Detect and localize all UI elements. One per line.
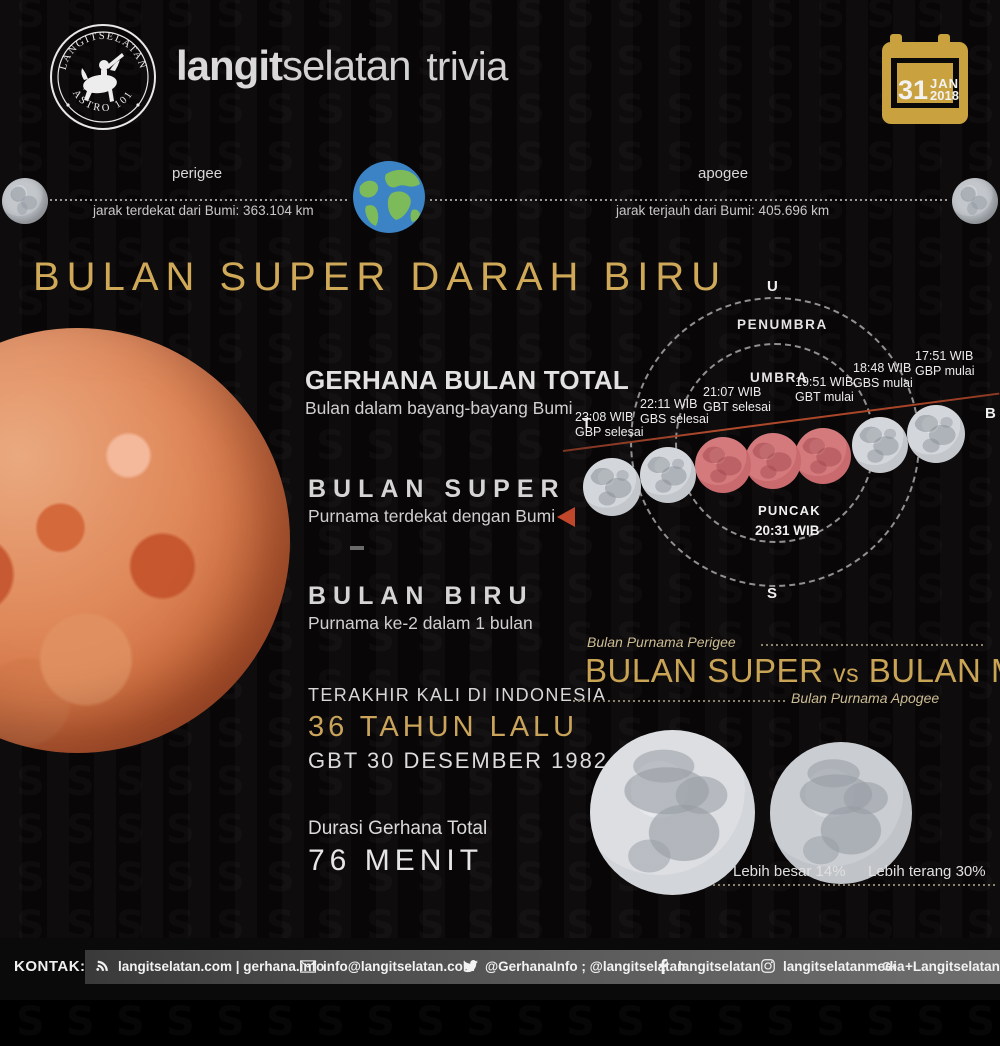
phase-time: 18:48 WIB	[853, 361, 913, 376]
earth-globe-icon	[352, 160, 426, 234]
last-occurrence-block: TERAKHIR KALI DI INDONESIA 36 TAHUN LALU…	[308, 685, 608, 774]
instagram-icon	[760, 958, 776, 974]
calendar-year: 2018	[930, 90, 959, 102]
axis-letter-selatan: S	[767, 585, 777, 602]
calendar-date-icon: 31 JAN 2018	[880, 30, 970, 128]
phase-time: 21:07 WIB	[703, 385, 771, 400]
perigee-sublabel: jarak terdekat dari Bumi: 363.104 km	[93, 203, 314, 218]
apogee-label: apogee	[698, 165, 748, 182]
apogee-moon-icon	[952, 178, 998, 224]
feature-title: BULAN BIRU	[308, 582, 534, 611]
compare-caption-dashed-line	[713, 884, 995, 886]
footer-item-email[interactable]: info@langitselatan.com	[300, 958, 475, 974]
feature-gerhana-bulan-total: GERHANA BULAN TOTAL Bulan dalam bayang-b…	[305, 365, 629, 419]
phase-caption-gbs-selesai: 22:11 WIB GBS selesai	[640, 397, 709, 427]
phase-caption-gbt-mulai: 19:51 WIB GBT mulai	[795, 375, 854, 405]
feature-subtitle: Purnama ke-2 dalam 1 bulan	[308, 613, 534, 634]
axis-letter-utara: U	[767, 278, 778, 295]
phase-time: 22:11 WIB	[640, 397, 709, 412]
langitselatan-seal-logo: LANGITSELATAN ASTRO 101	[48, 22, 158, 132]
compare-title-vs: vs	[833, 660, 859, 688]
eclipse-path-diagram: U S T B PENUMBRA UMBRA 23:08 WIB GBP sel…	[545, 275, 1000, 615]
feature-bulan-biru: BULAN BIRU Purnama ke-2 dalam 1 bulan	[308, 582, 534, 634]
footer-item-text: langitselatan.com | gerhana.info	[118, 959, 324, 974]
phase-moon-gbs-mulai	[852, 417, 908, 473]
envelope-icon	[300, 958, 316, 974]
perigee-apogee-bar: perigee jarak terdekat dari Bumi: 363.10…	[0, 155, 1000, 245]
compare-title-a: BULAN SUPER	[585, 652, 823, 689]
compare-top-dashed-line	[761, 644, 983, 646]
penumbra-label: PENUMBRA	[737, 317, 828, 332]
footer-item-text: info@langitselatan.com	[323, 959, 475, 974]
apogee-sublabel: jarak terjauh dari Bumi: 405.696 km	[616, 203, 829, 218]
brand-bold-text: langit	[176, 42, 282, 89]
phase-moon-puncak	[745, 433, 801, 489]
perigee-dotted-line	[50, 199, 350, 201]
duration-caption: Durasi Gerhana Total	[308, 818, 487, 840]
last-occurrence-caption: TERAKHIR KALI DI INDONESIA	[308, 685, 608, 706]
twitter-icon	[462, 958, 478, 974]
googleplus-icon: G+	[882, 958, 902, 974]
feature-subtitle: Purnama terdekat dengan Bumi	[308, 506, 566, 527]
footer-item-facebook[interactable]: langitselatan	[655, 958, 761, 974]
footer-item-text: +LangitselatanMedia	[905, 959, 1000, 974]
phase-time: 19:51 WIB	[795, 375, 854, 390]
super-vs-mini-section: Bulan Purnama Perigee BULAN SUPER vs BUL…	[565, 630, 1000, 900]
rss-icon	[95, 958, 111, 974]
feature-title: BULAN SUPER	[308, 475, 566, 504]
phase-moon-gbt-mulai	[795, 428, 851, 484]
brand-light-text: selatan	[282, 42, 410, 89]
apogee-dotted-line	[430, 199, 950, 201]
feature-bulan-super: BULAN SUPER Purnama terdekat dengan Bumi	[308, 475, 566, 527]
last-occurrence-highlight: 36 TAHUN LALU	[308, 711, 608, 744]
phase-event: GBS selesai	[640, 412, 709, 427]
phase-event: GBP mulai	[915, 364, 975, 379]
last-occurrence-detail: GBT 30 DESEMBER 1982	[308, 748, 608, 774]
compare-caption-right: Lebih terang 30%	[868, 863, 986, 880]
brand-trivia-text: trivia	[426, 45, 507, 89]
perigee-moon-icon	[2, 178, 48, 224]
phase-moon-gbt-selesai	[695, 437, 751, 493]
footer-item-text: langitselatan	[678, 959, 761, 974]
duration-block: Durasi Gerhana Total 76 MENIT	[308, 818, 487, 878]
compare-title: BULAN SUPER vs BULAN MINI	[585, 652, 1000, 690]
perigee-label: perigee	[172, 165, 222, 182]
phase-event: GBT selesai	[703, 400, 771, 415]
footer-item-twitter[interactable]: @GerhanaInfo ; @langitselatan	[462, 958, 685, 974]
compare-title-b: BULAN MINI	[869, 652, 1000, 689]
compare-top-note: Bulan Purnama Perigee	[587, 634, 736, 650]
blood-moon-illustration	[0, 328, 290, 753]
duration-value: 76 MENIT	[308, 844, 487, 878]
phase-moon-gbs-selesai	[640, 447, 696, 503]
page-title: BULAN SUPER DARAH BIRU	[33, 255, 727, 300]
footer-item-googleplus[interactable]: G+ +LangitselatanMedia	[882, 958, 1000, 974]
compare-bottom-dashed-line	[573, 700, 785, 702]
svg-text:+: +	[891, 961, 897, 972]
phase-moon-gbp-mulai	[907, 405, 965, 463]
facebook-icon	[655, 958, 671, 974]
compare-caption-left: Lebih besar 14%	[733, 863, 846, 880]
axis-letter-barat: B	[985, 405, 996, 422]
phase-event: GBS mulai	[853, 376, 913, 391]
phase-event: GBT mulai	[795, 390, 854, 405]
phase-caption-gbs-mulai: 18:48 WIB GBS mulai	[853, 361, 913, 391]
phase-moon-gbp-selesai	[583, 458, 641, 516]
peak-time: 20:31 WIB	[755, 523, 820, 538]
phase-time: 17:51 WIB	[915, 349, 975, 364]
feature-subtitle: Bulan dalam bayang-bayang Bumi	[305, 398, 629, 419]
kontak-label: KONTAK:	[14, 958, 86, 975]
feature-title: GERHANA BULAN TOTAL	[305, 365, 629, 396]
section-divider-dash	[350, 546, 364, 550]
phase-caption-gbp-mulai: 17:51 WIB GBP mulai	[915, 349, 975, 379]
phase-caption-gbt-selesai: 21:07 WIB GBT selesai	[703, 385, 771, 415]
footer-item-website[interactable]: langitselatan.com | gerhana.info	[95, 958, 324, 974]
brand-wordmark: langitselatantrivia	[176, 42, 508, 90]
peak-label: PUNCAK	[758, 503, 821, 518]
contact-footer-bar: KONTAK: langitselatan.com | gerhana.info…	[0, 938, 1000, 1000]
supermoon-comparison-circle	[590, 730, 755, 895]
calendar-day: 31	[898, 77, 928, 103]
compare-bottom-note: Bulan Purnama Apogee	[791, 690, 939, 706]
phase-event: GBP selesai	[575, 425, 644, 440]
